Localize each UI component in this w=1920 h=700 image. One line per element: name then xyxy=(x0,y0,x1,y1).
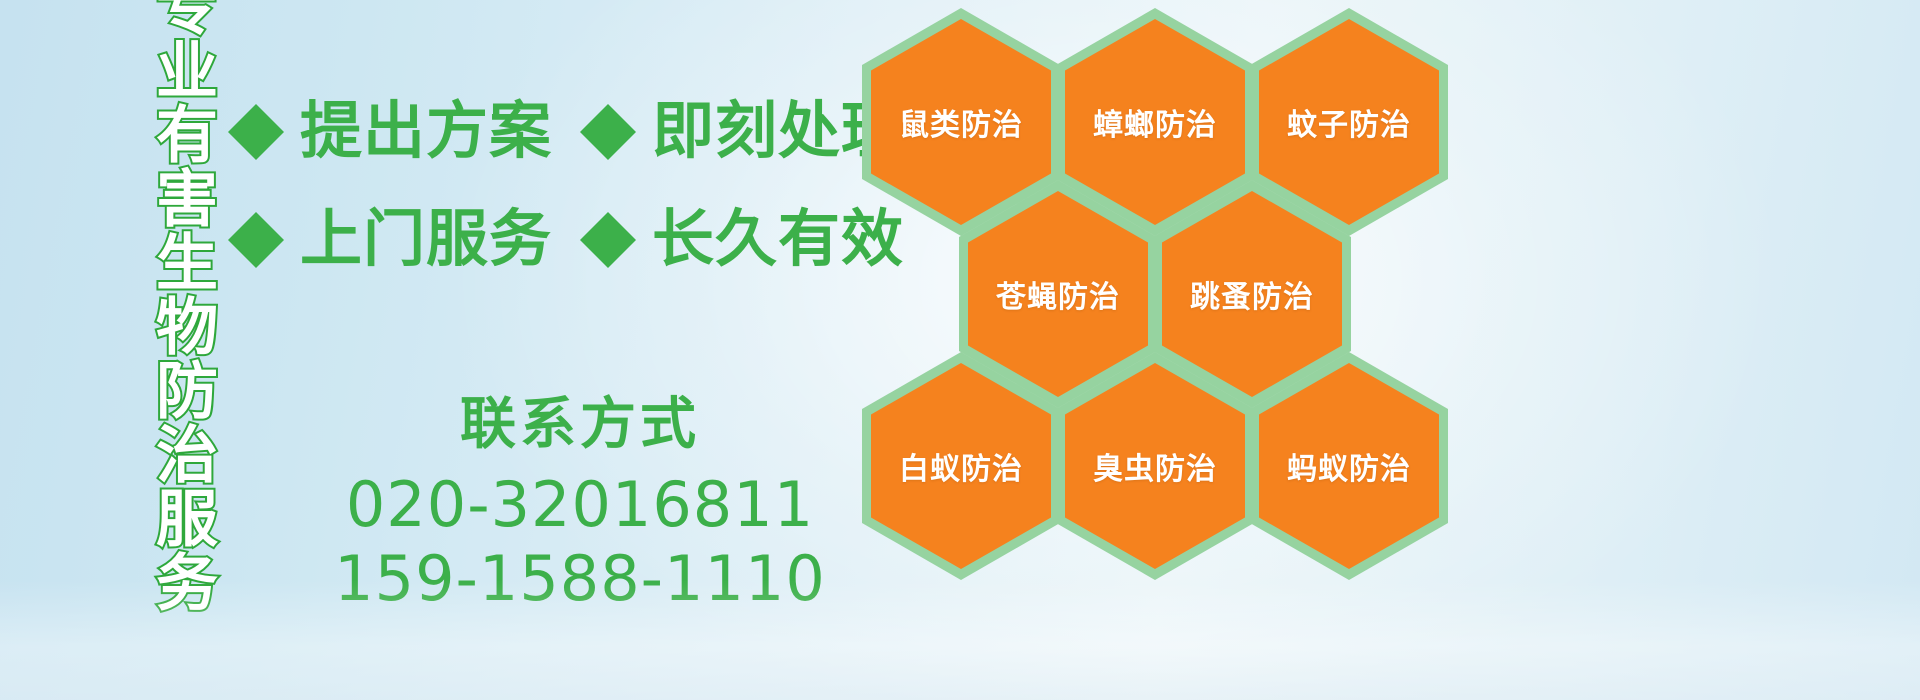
diamond-icon xyxy=(228,184,284,240)
pest-control-banner: 专业有害生物防治服务 提出方案 即刻处理 上门服务 长久有效 联 xyxy=(0,0,1920,700)
feature-row: 提出方案 即刻处理 xyxy=(228,78,878,186)
feature-label: 提出方案 xyxy=(300,101,552,163)
contact-heading: 联系方式 xyxy=(300,392,860,456)
contact-phone-mobile[interactable]: 159-1588-1110 xyxy=(300,542,860,615)
feature-item-onsite-service: 上门服务 xyxy=(228,209,552,271)
feature-list: 提出方案 即刻处理 上门服务 长久有效 xyxy=(228,78,878,294)
feature-item-long-lasting: 长久有效 xyxy=(580,209,904,271)
service-label: 蟑螂防治 xyxy=(1093,100,1217,144)
service-label: 蚊子防治 xyxy=(1287,100,1411,144)
feature-item-immediate-handling: 即刻处理 xyxy=(580,101,904,163)
feature-label: 上门服务 xyxy=(300,209,552,271)
service-label: 蚂蚁防治 xyxy=(1287,444,1411,488)
service-label: 白蚁防治 xyxy=(899,444,1023,488)
diamond-icon xyxy=(580,184,636,240)
contact-block: 联系方式 020-32016811 159-1588-1110 xyxy=(300,392,860,615)
service-label: 跳蚤防治 xyxy=(1190,272,1314,316)
service-label: 臭虫防治 xyxy=(1093,444,1217,488)
feature-row: 上门服务 长久有效 xyxy=(228,186,878,294)
service-label: 苍蝇防治 xyxy=(996,272,1120,316)
diamond-icon xyxy=(580,76,636,132)
service-label: 鼠类防治 xyxy=(899,100,1023,144)
vertical-headline: 专业有害生物防治服务 xyxy=(108,14,212,574)
contact-phone-landline[interactable]: 020-32016811 xyxy=(300,468,860,541)
diamond-icon xyxy=(228,76,284,132)
feature-item-propose-plan: 提出方案 xyxy=(228,101,552,163)
service-honeycomb: 鼠类防治 蟑螂防治 蚊子防治 苍蝇防治 跳蚤防治 白蚁防治 臭虫防治 xyxy=(862,0,1482,560)
